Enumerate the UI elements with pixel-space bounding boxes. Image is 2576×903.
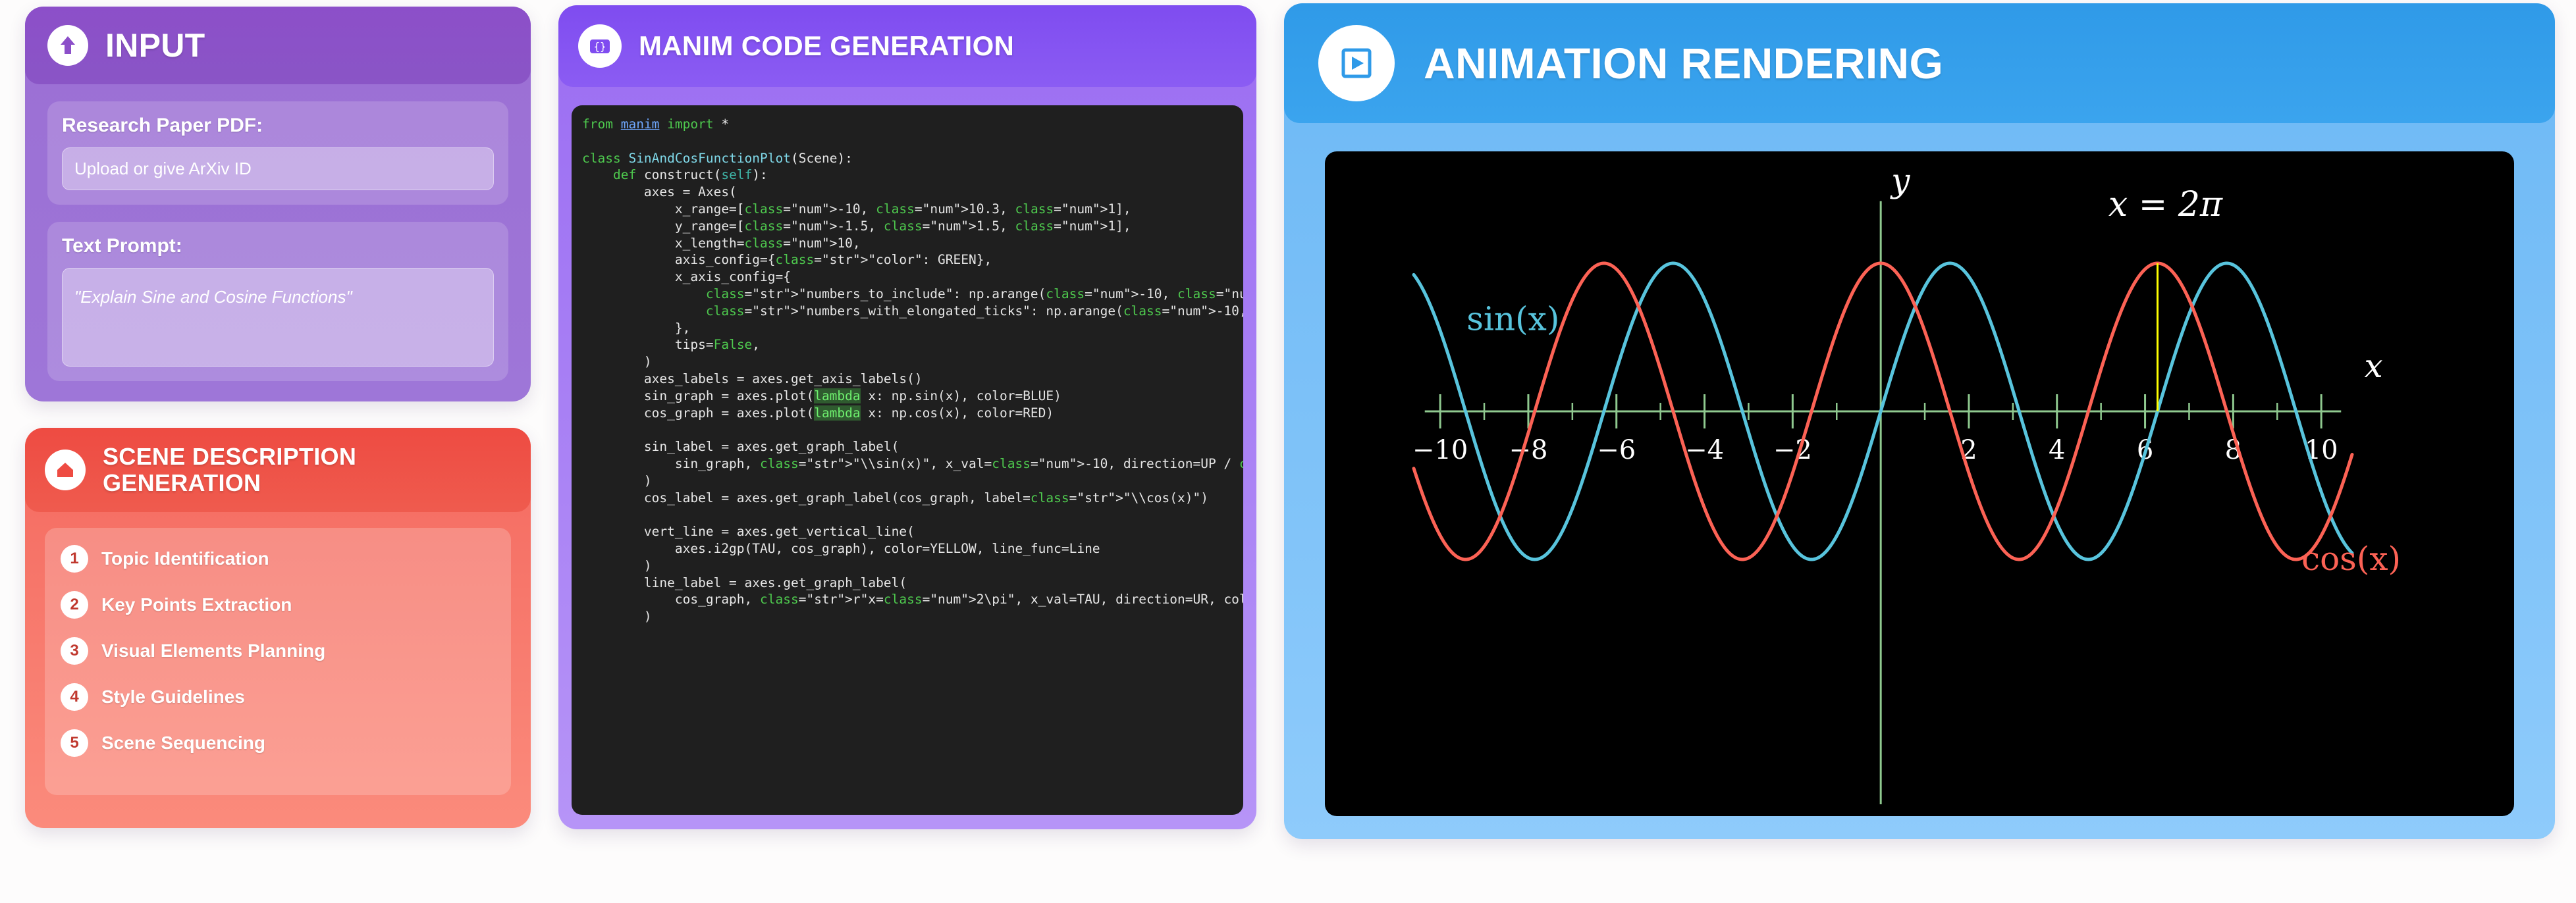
svg-text:−8: −8 xyxy=(1509,435,1547,465)
step-label: Scene Sequencing xyxy=(101,733,265,754)
svg-text:x: x xyxy=(2365,347,2383,385)
list-item[interactable]: 2 Key Points Extraction xyxy=(61,591,495,619)
step-label: Key Points Extraction xyxy=(101,594,292,615)
step-number: 5 xyxy=(61,729,88,757)
step-number: 2 xyxy=(61,591,88,619)
text-prompt-label: Text Prompt: xyxy=(62,235,494,257)
home-icon xyxy=(45,450,86,490)
svg-text:−2: −2 xyxy=(1773,435,1812,465)
step-number: 4 xyxy=(61,683,88,711)
scene-steps-list: 1 Topic Identification 2 Key Points Extr… xyxy=(45,528,511,795)
play-box-icon xyxy=(1318,25,1395,101)
code-braces-icon: {} xyxy=(578,24,622,68)
anim-panel-title: ANIMATION RENDERING xyxy=(1424,38,1943,88)
code-editor[interactable]: from manim import * class SinAndCosFunct… xyxy=(572,105,1243,815)
step-label: Visual Elements Planning xyxy=(101,640,325,661)
svg-text:−4: −4 xyxy=(1685,435,1724,465)
code-panel-title: MANIM CODE GENERATION xyxy=(639,30,1014,62)
text-prompt-field-group: Text Prompt: "Explain Sine and Cosine Fu… xyxy=(47,222,508,381)
step-number: 3 xyxy=(61,637,88,665)
input-panel-header: INPUT xyxy=(25,7,531,84)
input-panel: INPUT Research Paper PDF: Upload or give… xyxy=(25,7,531,401)
upload-arrow-icon xyxy=(47,25,88,66)
research-paper-field-group: Research Paper PDF: Upload or give ArXiv… xyxy=(47,101,508,205)
svg-text:cos(x): cos(x) xyxy=(2301,540,2401,578)
manim-code-panel: {} MANIM CODE GENERATION from manim impo… xyxy=(558,5,1256,829)
scene-panel-title: SCENE DESCRIPTION GENERATION xyxy=(103,444,511,496)
svg-text:{}: {} xyxy=(593,40,606,53)
svg-text:sin(x): sin(x) xyxy=(1466,299,1559,338)
pipeline-diagram: INPUT Research Paper PDF: Upload or give… xyxy=(0,0,2576,903)
scene-description-panel: SCENE DESCRIPTION GENERATION 1 Topic Ide… xyxy=(25,428,531,828)
list-item[interactable]: 4 Style Guidelines xyxy=(61,683,495,711)
list-item[interactable]: 5 Scene Sequencing xyxy=(61,729,495,757)
svg-text:−6: −6 xyxy=(1597,435,1636,465)
research-paper-label: Research Paper PDF: xyxy=(62,115,494,137)
input-panel-title: INPUT xyxy=(105,26,205,64)
animation-canvas: −10−8−6−4−2246810x = 2πxysin(x)cos(x) xyxy=(1325,151,2514,816)
list-item[interactable]: 3 Visual Elements Planning xyxy=(61,637,495,665)
step-label: Style Guidelines xyxy=(101,686,245,708)
sin-cos-plot: −10−8−6−4−2246810x = 2πxysin(x)cos(x) xyxy=(1325,151,2514,816)
svg-text:4: 4 xyxy=(2049,435,2065,465)
code-content: from manim import * class SinAndCosFunct… xyxy=(582,116,1243,625)
research-paper-input[interactable]: Upload or give ArXiv ID xyxy=(62,147,494,190)
scene-panel-header: SCENE DESCRIPTION GENERATION xyxy=(25,428,531,512)
svg-text:−10: −10 xyxy=(1412,435,1468,465)
step-number: 1 xyxy=(61,545,88,573)
svg-text:x = 2π: x = 2π xyxy=(2108,185,2223,224)
anim-panel-header: ANIMATION RENDERING xyxy=(1284,3,2555,123)
step-label: Topic Identification xyxy=(101,548,269,569)
svg-text:y: y xyxy=(1890,162,1910,200)
list-item[interactable]: 1 Topic Identification xyxy=(61,545,495,573)
animation-rendering-panel: ANIMATION RENDERING −10−8−6−4−2246810x =… xyxy=(1284,3,2555,839)
code-panel-header: {} MANIM CODE GENERATION xyxy=(558,5,1256,87)
text-prompt-input[interactable]: "Explain Sine and Cosine Functions" xyxy=(62,268,494,367)
